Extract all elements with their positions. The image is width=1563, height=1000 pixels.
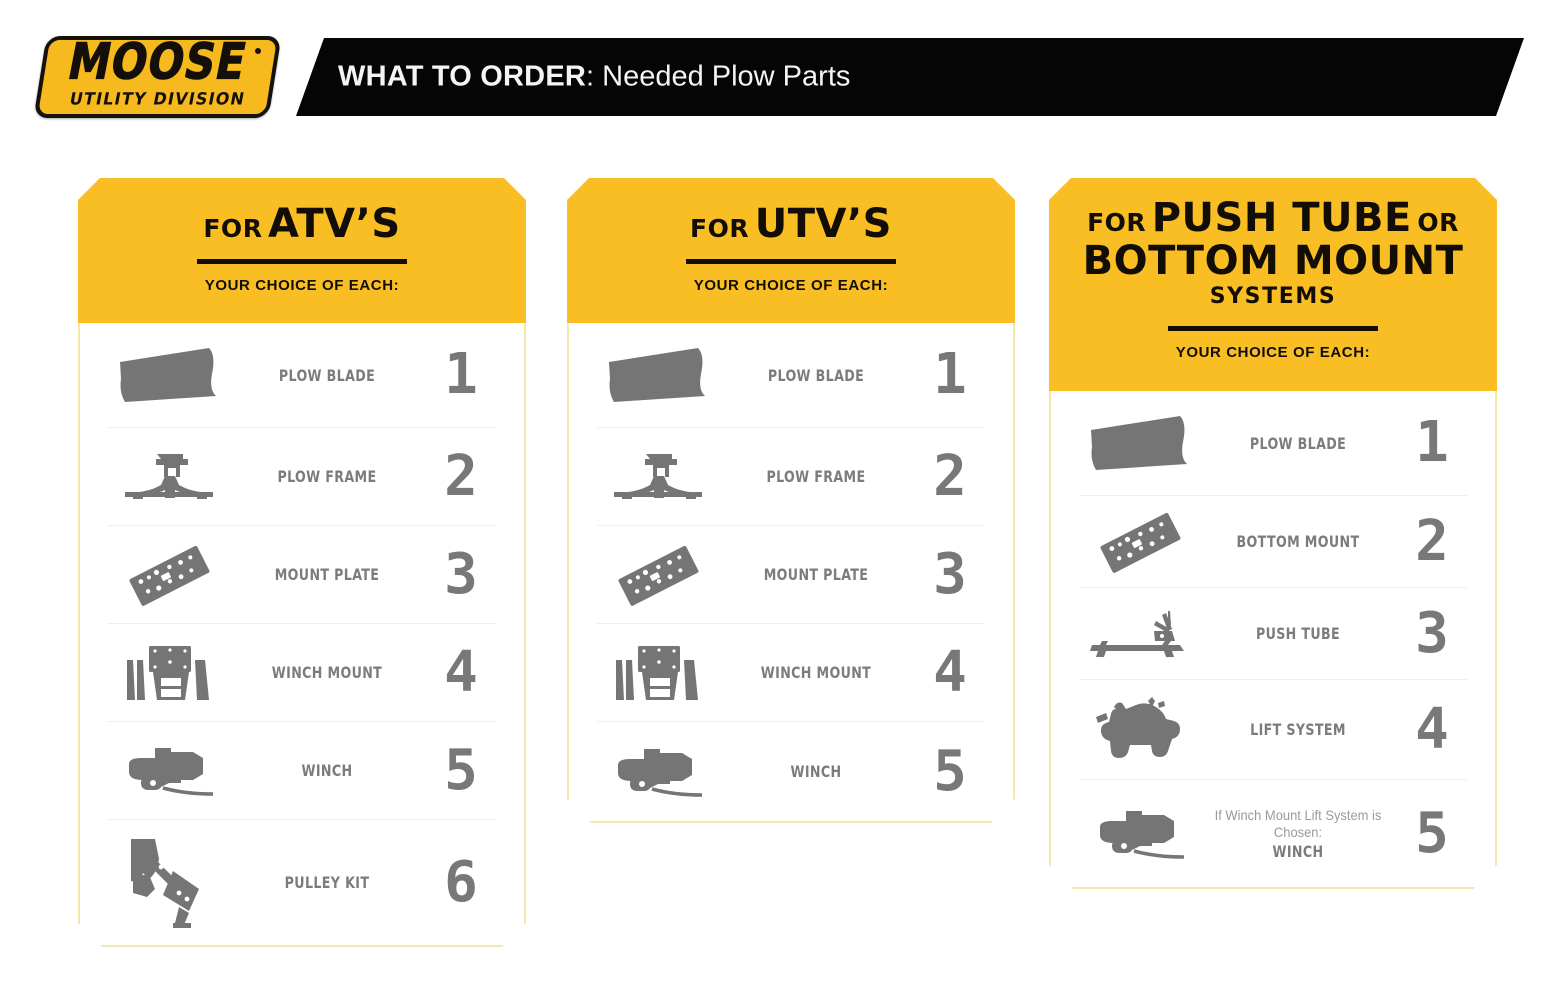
list-item-label: WINCH MOUNT (731, 663, 902, 682)
list-item[interactable]: PLOW BLADE 1 (597, 323, 985, 427)
card-push-tube-title: FOR PUSH TUBE OR BOTTOM MOUNT SYSTEMS (1049, 198, 1497, 308)
list-item-label: MOUNT PLATE (242, 565, 413, 584)
mount-plate-icon (1079, 507, 1201, 577)
list-item[interactable]: WINCH 5 (597, 721, 985, 821)
banner-title-rest: : Needed Plow Parts (586, 61, 850, 93)
card-push-tube-divider (1168, 326, 1378, 331)
list-item[interactable]: LIFT SYSTEM 4 (1079, 679, 1467, 779)
list-item-label: PUSH TUBE (1213, 624, 1384, 643)
list-item-label: WINCH MOUNT (242, 663, 413, 682)
list-item[interactable]: If Winch Mount Lift System is Chosen: WI… (1079, 779, 1467, 887)
list-item[interactable]: PLOW FRAME 2 (597, 427, 985, 525)
list-item-number: 1 (1395, 415, 1467, 471)
winch-icon (1079, 805, 1201, 863)
list-item[interactable]: PLOW FRAME 2 (108, 427, 496, 525)
list-item[interactable]: WINCH MOUNT 4 (108, 623, 496, 721)
card-push-tube-title-post: OR (1417, 208, 1459, 237)
card-utv-divider (686, 259, 896, 264)
card-push-tube-title-pre: FOR (1087, 208, 1146, 237)
card-atv-title-pre: FOR (203, 214, 262, 243)
card-atv-divider (197, 259, 407, 264)
list-item-number: 4 (1395, 702, 1467, 758)
list-item-label: PULLEY KIT (242, 873, 413, 892)
plow-frame-icon (108, 448, 230, 506)
plow-blade-icon (1079, 414, 1201, 472)
list-item-label: WINCH (242, 761, 413, 780)
list-item-label-text: WINCH (1273, 842, 1324, 861)
list-item-number: 3 (1395, 606, 1467, 662)
logo-wordmark: MOOSE (35, 36, 280, 88)
list-item-label: PLOW FRAME (242, 467, 413, 486)
winch-icon (597, 743, 719, 801)
card-utv-title-pre: FOR (690, 214, 749, 243)
list-item-number: 5 (1395, 806, 1467, 862)
mount-plate-icon (108, 540, 230, 610)
list-item[interactable]: WINCH MOUNT 4 (597, 623, 985, 721)
list-item[interactable]: WINCH 5 (108, 721, 496, 819)
list-item[interactable]: PULLEY KIT 6 (108, 819, 496, 945)
list-item-number: 6 (424, 855, 496, 911)
list-item-label: BOTTOM MOUNT (1213, 532, 1384, 551)
list-item[interactable]: MOUNT PLATE 3 (108, 525, 496, 623)
card-push-tube-header: FOR PUSH TUBE OR BOTTOM MOUNT SYSTEMS YO… (1049, 178, 1497, 391)
list-item-label: MOUNT PLATE (731, 565, 902, 584)
pulley-kit-icon (108, 835, 230, 931)
winch-mount-icon (597, 640, 719, 706)
plow-blade-icon (597, 346, 719, 404)
card-push-tube: FOR PUSH TUBE OR BOTTOM MOUNT SYSTEMS YO… (1049, 178, 1497, 889)
card-utv-choice-label: YOUR CHOICE OF EACH: (567, 277, 1015, 294)
card-push-tube-choice-label: YOUR CHOICE OF EACH: (1049, 344, 1497, 361)
list-item-number: 4 (424, 645, 496, 701)
list-item[interactable]: PLOW BLADE 1 (108, 323, 496, 427)
logo-tagline: UTILITY DIVISION (38, 89, 277, 109)
plow-frame-icon (597, 448, 719, 506)
mount-plate-icon (597, 540, 719, 610)
list-item-label: PLOW BLADE (731, 366, 902, 385)
card-push-tube-title-line3: SYSTEMS (1049, 286, 1497, 308)
moose-logo: MOOSE UTILITY DIVISION (40, 36, 275, 118)
list-item-number: 1 (913, 347, 985, 403)
card-atv-body: PLOW BLADE 1 PLOW FRAME 2 MOUNT PLATE 3 (78, 323, 526, 947)
page-header: MOOSE UTILITY DIVISION WHAT TO ORDER: Ne… (0, 0, 1563, 150)
list-item[interactable]: BOTTOM MOUNT 2 (1079, 495, 1467, 587)
card-utv-header: FOR UTV’S YOUR CHOICE OF EACH: (567, 178, 1015, 323)
list-item-label: WINCH (731, 762, 902, 781)
banner-title-bold: WHAT TO ORDER (338, 61, 586, 93)
list-item-number: 2 (424, 449, 496, 505)
atv-icon (1079, 695, 1201, 765)
list-item-number: 4 (913, 645, 985, 701)
plow-blade-icon (108, 346, 230, 404)
list-item[interactable]: PUSH TUBE 3 (1079, 587, 1467, 679)
list-item-label: If Winch Mount Lift System is Chosen: WI… (1213, 807, 1384, 861)
list-item-number: 3 (424, 547, 496, 603)
card-push-tube-title-main: PUSH TUBE (1152, 195, 1412, 241)
card-push-tube-title-line2: BOTTOM MOUNT (1049, 241, 1497, 282)
header-banner: WHAT TO ORDER: Needed Plow Parts (296, 38, 1524, 116)
winch-icon (108, 742, 230, 800)
list-item-number: 2 (913, 449, 985, 505)
card-atv-title-main: ATV’S (268, 201, 401, 247)
card-atv: FOR ATV’S YOUR CHOICE OF EACH: PLOW BLAD… (78, 178, 526, 947)
card-utv-body: PLOW BLADE 1 PLOW FRAME 2 MOUNT PLATE 3 (567, 323, 1015, 823)
list-item-label: PLOW BLADE (242, 366, 413, 385)
push-tube-icon (1079, 605, 1201, 663)
list-item-number: 5 (913, 744, 985, 800)
list-item-number: 5 (424, 743, 496, 799)
card-atv-title: FOR ATV’S (78, 204, 526, 245)
card-atv-choice-label: YOUR CHOICE OF EACH: (78, 277, 526, 294)
card-utv: FOR UTV’S YOUR CHOICE OF EACH: PLOW BLAD… (567, 178, 1015, 823)
card-push-tube-body: PLOW BLADE 1 BOTTOM MOUNT 2 PUSH TUBE 3 (1049, 391, 1497, 889)
list-item-label: PLOW BLADE (1213, 434, 1384, 453)
banner-title: WHAT TO ORDER: Needed Plow Parts (338, 61, 850, 94)
registered-mark-icon (255, 48, 261, 54)
card-utv-title-main: UTV’S (755, 201, 892, 247)
list-item[interactable]: PLOW BLADE 1 (1079, 391, 1467, 495)
winch-mount-icon (108, 640, 230, 706)
list-item-label: LIFT SYSTEM (1213, 720, 1384, 739)
list-item[interactable]: MOUNT PLATE 3 (597, 525, 985, 623)
list-item-number: 2 (1395, 514, 1467, 570)
infographic-root: MOOSE UTILITY DIVISION WHAT TO ORDER: Ne… (0, 0, 1563, 1000)
list-item-number: 1 (424, 347, 496, 403)
card-atv-header: FOR ATV’S YOUR CHOICE OF EACH: (78, 178, 526, 323)
card-push-tube-title-line1: FOR PUSH TUBE OR (1049, 198, 1497, 239)
list-item-number: 3 (913, 547, 985, 603)
list-item-sublabel: If Winch Mount Lift System is Chosen: (1208, 807, 1387, 842)
list-item-label: PLOW FRAME (731, 467, 902, 486)
card-utv-title: FOR UTV’S (567, 204, 1015, 245)
